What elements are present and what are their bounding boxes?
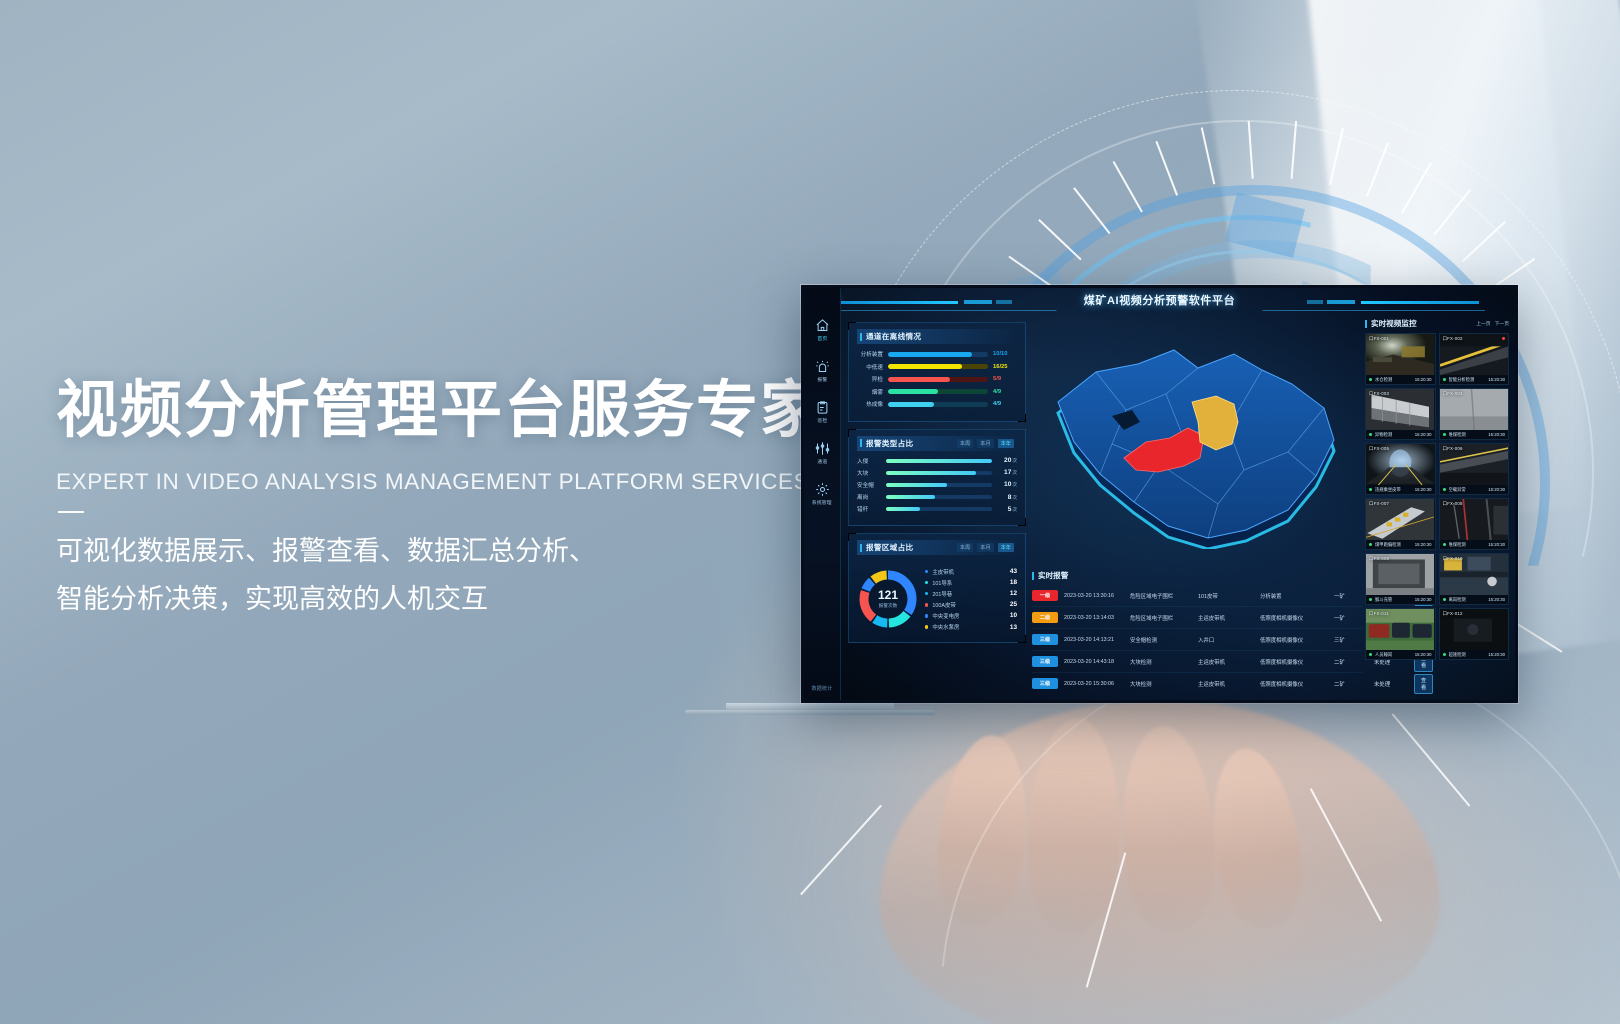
divider-rule	[58, 511, 84, 513]
tick-mark	[1113, 161, 1143, 212]
legend-color-dot	[925, 625, 928, 628]
channel-bar-track	[888, 364, 988, 369]
header-bar-right	[1361, 301, 1479, 304]
alarm-area-tabs[interactable]: 本周本月本年	[957, 543, 1014, 552]
table-row: 三级2023-03-20 14:43:18大块检测主运皮带机低照度相机摄像仪二矿…	[1032, 650, 1363, 672]
panel-title: 通道在离线情况	[860, 331, 921, 342]
video-cell[interactable]: 口FX-012超速检测15:20:30	[1439, 608, 1510, 660]
video-grid: 口FX-001水仓检测15:20:30口FX-002智能分析检测15:20:30…	[1365, 333, 1509, 660]
alarm-time: 2023-03-20 13:30:16	[1064, 593, 1130, 599]
video-timestamp: 15:20:30	[1415, 542, 1432, 547]
tick-mark	[1201, 127, 1216, 184]
video-camera-id: 口FX-008	[1443, 501, 1463, 507]
sidebar-item-1[interactable]: 首页	[815, 318, 830, 342]
video-monitor-panel: 实时视频监控 上一页 下一页 口FX-001水仓检测15:20:30口FX-00…	[1365, 318, 1509, 692]
tick-mark	[1291, 121, 1298, 179]
tick-mark	[1366, 142, 1389, 197]
sidebar-item-label: 通道	[817, 458, 827, 464]
table-row: 二级2023-03-20 13:14:03危险区域电子围栏主运皮带机低照度相机摄…	[1032, 606, 1363, 628]
video-label: 离岗检测	[1449, 597, 1489, 603]
alarm-type-tab-3[interactable]: 本年	[998, 439, 1014, 448]
header-dash-3	[1327, 300, 1355, 304]
channel-bar-fill	[888, 364, 962, 369]
alarm-type-unit: 次	[1012, 507, 1017, 512]
video-camera-id: 口FX-005	[1369, 446, 1389, 452]
video-label: 煤甲跑偏检测	[1375, 542, 1415, 548]
alarm-type-track	[886, 471, 992, 475]
alarm-level-badge: 三级	[1032, 656, 1058, 667]
video-timestamp: 15:20:30	[1488, 377, 1505, 382]
channel-bar-fill	[888, 389, 938, 394]
alarm-time: 2023-03-20 13:14:03	[1064, 615, 1130, 621]
gear-icon	[815, 482, 830, 497]
alarm-time: 2023-03-20 15:30:06	[1064, 681, 1130, 687]
video-cell[interactable]: 口FX-007煤甲跑偏检测15:20:30	[1365, 498, 1436, 550]
video-timestamp: 15:20:30	[1415, 597, 1432, 602]
channel-bar-track	[888, 377, 988, 382]
video-timestamp: 15:20:30	[1415, 652, 1432, 657]
alarm-level-badge: 二级	[1032, 612, 1058, 623]
tick-mark	[1462, 221, 1506, 262]
hero-desc-line-2: 智能分析决策，实现高效的人机交互	[56, 575, 824, 623]
alarm-type-unit: 次	[1012, 458, 1017, 463]
video-timestamp: 15:20:30	[1488, 542, 1505, 547]
legend-row: 100A皮带25	[925, 601, 1017, 609]
video-label: 猴斗充管	[1375, 597, 1415, 603]
alarm-type-row: 离岗8次	[857, 493, 1017, 501]
video-camera-id: 口FX-009	[1369, 556, 1389, 562]
channel-row: 异检5/9	[857, 375, 1017, 383]
video-camera-id: 口FX-001	[1369, 336, 1389, 342]
tick-mark	[1433, 189, 1471, 236]
legend-color-dot	[925, 614, 928, 617]
channel-bar-track	[888, 352, 988, 357]
dashboard-sidebar[interactable]: 首页报警巡检通道系统管理数据统计	[804, 288, 841, 700]
alarm-type-fill	[886, 507, 920, 511]
status-online-dot	[1369, 488, 1372, 491]
legend-value: 12	[1010, 590, 1017, 597]
video-label: 空载异常	[1449, 487, 1489, 493]
realtime-alarm-panel: 实时报警 一级2023-03-20 13:30:16危险区域电子围栏101皮带分…	[1032, 570, 1363, 692]
sidebar-footer-label: 数据统计	[804, 685, 840, 692]
channel-value: 16/25	[993, 364, 1017, 370]
video-cell[interactable]: 口FX-004堆煤检测15:20:30	[1439, 388, 1510, 440]
legend-value: 10	[1010, 612, 1017, 619]
alarm-device: 分析装置	[1260, 592, 1334, 600]
video-camera-id: 口FX-012	[1443, 611, 1463, 617]
alarm-type-value: 8次	[997, 494, 1017, 501]
alarm-type-value: 17次	[997, 469, 1017, 476]
alarm-type: 大块检测	[1130, 680, 1198, 688]
alarm-type-fill	[886, 471, 976, 475]
table-row: 一级2023-03-20 13:30:16危险区域电子围栏101皮带分析装置一矿…	[1032, 585, 1363, 606]
alarm-type-row: 入侵20次	[857, 457, 1017, 465]
channel-name: 热成像	[857, 400, 883, 408]
legend-label: 100A皮带	[932, 601, 1006, 609]
legend-label: 201导巷	[932, 590, 1006, 598]
alarm-type-track	[886, 495, 992, 499]
legend-value: 18	[1010, 579, 1017, 586]
alarm-type-value: 20次	[997, 457, 1017, 464]
province-map[interactable]	[1048, 324, 1348, 549]
alarm-type-row: 错杆5次	[857, 505, 1017, 513]
alarm-area-chart: 121 报警次数 主皮带机43101导系18201导巷12100A皮带25中央变…	[857, 561, 1017, 634]
legend-label: 中央水泵房	[932, 623, 1006, 631]
video-label: 智能分析检测	[1449, 377, 1489, 383]
video-footer: 空载异常15:20:30	[1440, 485, 1509, 494]
alarm-type-row: 安全帽10次	[857, 481, 1017, 489]
alarm-type-name: 大块	[857, 469, 881, 477]
video-panel-header: 实时视频监控 上一页 下一页	[1365, 318, 1509, 329]
alarm-type-tabs[interactable]: 本周本月本年	[957, 439, 1014, 448]
video-camera-id: 口FX-007	[1369, 501, 1389, 507]
alarm-level-badge: 三级	[1032, 678, 1058, 689]
realtime-alarm-title: 实时报警	[1032, 570, 1363, 581]
sidebar-footer: 数据统计	[804, 685, 840, 692]
channel-bar-track	[888, 389, 988, 394]
channel-bar-fill	[888, 402, 934, 407]
video-label: 堆煤检测	[1449, 542, 1489, 548]
status-online-dot	[1369, 653, 1372, 656]
legend-label: 主皮带机	[932, 568, 1006, 576]
channel-value: 10/10	[993, 351, 1017, 357]
home-icon	[815, 318, 830, 333]
panel-title: 报警类型占比	[860, 438, 913, 449]
recording-indicator-icon	[1502, 337, 1505, 340]
alarm-channel: 101皮带	[1198, 592, 1260, 600]
legend-row: 中央水泵房13	[925, 623, 1017, 631]
video-cell[interactable]: 口FX-008堆煤检测15:20:30	[1439, 498, 1510, 550]
channel-name: 中低速	[857, 363, 883, 371]
clipboard-check-icon	[815, 400, 830, 415]
left-column: 通道在离线情况 分析装置10/10中低速16/25异检5/9烟雾4/9热成像4/…	[848, 322, 1026, 690]
donut-total-value: 121	[878, 589, 898, 601]
video-camera-id: 口FX-004	[1443, 391, 1463, 397]
video-camera-id: 口FX-002	[1443, 336, 1463, 342]
legend-value: 25	[1010, 601, 1017, 608]
alarm-type-value: 10次	[997, 481, 1017, 488]
alarm-device: 低照度相机摄像仪	[1260, 658, 1334, 666]
video-cell[interactable]: 口FX-005违规乘坐皮带15:20:30	[1365, 443, 1436, 495]
alarm-type-name: 入侵	[857, 457, 881, 465]
legend-color-dot	[925, 592, 928, 595]
video-camera-id: 口FX-006	[1443, 446, 1463, 452]
sidebar-item-label: 首页	[817, 335, 827, 341]
status-online-dot	[1443, 543, 1446, 546]
alarm-type-tab-1[interactable]: 本周	[957, 439, 973, 448]
channel-bar-list: 分析装置10/10中低速16/25异检5/9烟雾4/9热成像4/9	[857, 350, 1017, 408]
channel-name: 分析装置	[857, 350, 883, 358]
video-footer: 煤甲跑偏检测15:20:30	[1366, 540, 1435, 549]
legend-value: 43	[1010, 568, 1017, 575]
sidebar-item-5[interactable]: 系统管理	[811, 482, 833, 506]
legend-color-dot	[925, 570, 928, 573]
channel-row: 烟雾4/9	[857, 388, 1017, 396]
video-footer: 超速检测15:20:30	[1440, 650, 1509, 659]
alarm-type: 大块检测	[1130, 658, 1198, 666]
tick-mark	[1329, 128, 1344, 185]
sidebar-item-2[interactable]: 报警	[815, 359, 830, 383]
monitor-device: 煤矿AI视频分析预警软件平台 首页报警巡检通道系统管理数据统计 通道在离线情况 …	[801, 285, 1518, 703]
alarm-type-name: 安全帽	[857, 481, 881, 489]
sidebar-item-label: 巡检	[817, 417, 827, 423]
video-camera-id: 口FX-003	[1369, 391, 1389, 397]
video-cell[interactable]: 口FX-006空载异常15:20:30	[1439, 443, 1510, 495]
alarm-type-fill	[886, 495, 935, 499]
channel-bar-fill	[888, 352, 972, 357]
status-online-dot	[1369, 598, 1372, 601]
video-cell[interactable]: 口FX-009猴斗充管15:20:30	[1365, 553, 1436, 605]
status-online-dot	[1369, 378, 1372, 381]
page-subtitle-en: EXPERT IN VIDEO ANALYSIS MANAGEMENT PLAT…	[56, 469, 824, 495]
monitor-stand	[726, 703, 894, 710]
video-label: 堆煤检测	[1449, 432, 1489, 438]
channel-name: 烟雾	[857, 388, 883, 396]
alarm-channel: 主运皮带机	[1198, 614, 1260, 622]
legend-value: 13	[1010, 624, 1017, 631]
table-row: 三级2023-03-20 15:30:06大块检测主运皮带机低照度相机摄像仪二矿…	[1032, 672, 1363, 694]
alarm-device: 低照度相机摄像仪	[1260, 614, 1334, 622]
alarm-type-track	[886, 459, 992, 463]
legend-row: 主皮带机43	[925, 568, 1017, 576]
channel-value: 5/9	[993, 376, 1017, 382]
map-box[interactable]	[1032, 322, 1363, 550]
dashboard-title: 煤矿AI视频分析预警软件平台	[1084, 292, 1235, 308]
tick-mark	[1073, 187, 1110, 234]
alarm-type-name: 错杆	[857, 505, 881, 513]
status-online-dot	[1369, 543, 1372, 546]
panel-header: 报警类型占比 本周本月本年	[857, 436, 1017, 451]
header-dash-2	[996, 300, 1012, 304]
donut-center: 121 报警次数	[869, 580, 907, 618]
status-online-dot	[1443, 378, 1446, 381]
dashboard-screen: 煤矿AI视频分析预警软件平台 首页报警巡检通道系统管理数据统计 通道在离线情况 …	[804, 288, 1515, 700]
video-timestamp: 15:20:30	[1488, 597, 1505, 602]
header-dash-1	[964, 300, 992, 304]
alarm-device: 低照度相机摄像仪	[1260, 680, 1334, 688]
alarm-area-tab-1[interactable]: 本周	[957, 543, 973, 552]
legend-row: 101导系18	[925, 579, 1017, 587]
status-online-dot	[1443, 488, 1446, 491]
tick-mark	[1038, 219, 1081, 260]
video-panel-title: 实时视频监控	[1365, 318, 1417, 329]
table-row: 三级2023-03-20 14:13:21安全帽检测入井口低照度相机摄像仪三矿未…	[1032, 628, 1363, 650]
video-cell[interactable]: 口FX-003异物检测15:20:30	[1365, 388, 1436, 440]
sidebar-item-label: 系统管理	[812, 499, 832, 505]
channel-bar-track	[888, 402, 988, 407]
header-bar-left	[840, 301, 958, 304]
alarm-device: 低照度相机摄像仪	[1260, 636, 1334, 644]
alarm-channel: 入井口	[1198, 636, 1260, 644]
status-online-dot	[1443, 433, 1446, 436]
video-timestamp: 15:20:30	[1415, 377, 1432, 382]
legend-color-dot	[925, 581, 928, 584]
alarm-type-fill	[886, 483, 947, 487]
alarm-level-badge: 一级	[1032, 590, 1058, 601]
alarm-type-unit: 次	[1012, 470, 1017, 475]
video-cell[interactable]: 口FX-001水仓检测15:20:30	[1365, 333, 1436, 385]
status-online-dot	[1369, 433, 1372, 436]
channel-row: 中低速16/25	[857, 363, 1017, 371]
video-footer: 离岗检测15:20:30	[1440, 595, 1509, 604]
donut-chart: 121 报警次数	[857, 568, 919, 630]
sidebar-item-label: 报警	[817, 376, 827, 382]
alarm-level-badge: 三级	[1032, 634, 1058, 645]
alarm-area-tab-3[interactable]: 本年	[998, 543, 1014, 552]
channel-bar-fill	[888, 377, 950, 382]
donut-legend: 主皮带机43101导系18201导巷12100A皮带25中央变电房10中央水泵房…	[925, 564, 1017, 634]
channel-value: 4/9	[993, 401, 1017, 407]
video-label: 异物检测	[1375, 432, 1415, 438]
status-online-dot	[1443, 598, 1446, 601]
alarm-time: 2023-03-20 14:13:21	[1064, 637, 1130, 643]
page-title: 视频分析管理平台服务专家	[56, 378, 824, 445]
hero-text-block: 视频分析管理平台服务专家 EXPERT IN VIDEO ANALYSIS MA…	[56, 378, 824, 623]
alarm-light-icon	[815, 359, 830, 374]
sidebar-item-3[interactable]: 巡检	[815, 400, 830, 424]
video-pagination[interactable]: 上一页 下一页	[1476, 320, 1509, 327]
alarm-type: 危险区域电子围栏	[1130, 592, 1198, 600]
alarm-type-track	[886, 483, 992, 487]
video-footer: 猴斗充管15:20:30	[1366, 595, 1435, 604]
alarm-area-tab-2[interactable]: 本月	[977, 543, 993, 552]
legend-label: 101导系	[932, 579, 1006, 587]
sidebar-item-4[interactable]: 通道	[815, 441, 830, 465]
video-footer: 堆煤检测15:20:30	[1440, 430, 1509, 439]
video-footer: 异物检测15:20:30	[1366, 430, 1435, 439]
video-timestamp: 15:20:30	[1488, 432, 1505, 437]
video-footer: 人员睡岗15:20:30	[1366, 650, 1435, 659]
header-dash-4	[1307, 300, 1323, 304]
video-cell[interactable]: 口FX-010离岗检测15:20:30	[1439, 553, 1510, 605]
alarm-type-unit: 次	[1012, 482, 1017, 487]
video-cell[interactable]: 口FX-011人员睡岗15:20:30	[1365, 608, 1436, 660]
legend-color-dot	[925, 603, 928, 606]
alarm-type-row: 大块17次	[857, 469, 1017, 477]
video-timestamp: 15:20:30	[1488, 487, 1505, 492]
alarm-type: 危险区域电子围栏	[1130, 614, 1198, 622]
alarm-type: 安全帽检测	[1130, 636, 1198, 644]
channel-name: 异检	[857, 375, 883, 383]
video-timestamp: 15:20:30	[1415, 487, 1432, 492]
hero-desc-line-1: 可视化数据展示、报警查看、数据汇总分析、	[56, 527, 824, 575]
tick-mark	[1401, 162, 1432, 213]
status-online-dot	[1443, 653, 1446, 656]
legend-label: 中央变电房	[932, 612, 1006, 620]
alarm-type-name: 离岗	[857, 493, 881, 501]
alarm-time: 2023-03-20 14:43:18	[1064, 659, 1130, 665]
alarm-channel: 主运皮带机	[1198, 658, 1260, 666]
legend-row: 201导巷12	[925, 590, 1017, 598]
tick-mark	[1155, 141, 1178, 196]
video-timestamp: 15:20:30	[1415, 432, 1432, 437]
video-footer: 水仓检测15:20:30	[1366, 375, 1435, 384]
alarm-type-track	[886, 507, 992, 511]
panel-channel-status: 通道在离线情况 分析装置10/10中低速16/25异检5/9烟雾4/9热成像4/…	[848, 322, 1026, 422]
video-label: 人员睡岗	[1375, 652, 1415, 658]
alarm-type-fill	[886, 459, 992, 463]
panel-title: 报警区域占比	[860, 542, 913, 553]
channel-icon	[815, 441, 830, 456]
alarm-type-tab-2[interactable]: 本月	[977, 439, 993, 448]
video-prev-page[interactable]: 上一页	[1476, 320, 1490, 327]
video-label: 水仓检测	[1375, 377, 1415, 383]
video-camera-id: 口FX-011	[1369, 611, 1389, 617]
alarm-channel: 主运皮带机	[1198, 680, 1260, 688]
tick-mark	[1248, 121, 1254, 179]
alarm-type-list: 入侵20次大块17次安全帽10次离岗8次错杆5次	[857, 457, 1017, 514]
channel-row: 热成像4/9	[857, 400, 1017, 408]
legend-row: 中央变电房10	[925, 612, 1017, 620]
video-timestamp: 15:20:30	[1488, 652, 1505, 657]
video-label: 违规乘坐皮带	[1375, 487, 1415, 493]
panel-header: 报警区域占比 本周本月本年	[857, 540, 1017, 555]
panel-alarm-type: 报警类型占比 本周本月本年 入侵20次大块17次安全帽10次离岗8次错杆5次	[848, 429, 1026, 527]
video-camera-id: 口FX-010	[1443, 556, 1463, 562]
video-cell[interactable]: 口FX-002智能分析检测15:20:30	[1439, 333, 1510, 385]
video-footer: 堆煤检测15:20:30	[1440, 540, 1509, 549]
alarm-type-value: 5次	[997, 506, 1017, 513]
panel-header: 通道在离线情况	[857, 329, 1017, 344]
realtime-alarm-table: 一级2023-03-20 13:30:16危险区域电子围栏101皮带分析装置一矿…	[1032, 585, 1363, 694]
donut-total-label: 报警次数	[879, 603, 897, 609]
video-label: 超速检测	[1449, 652, 1489, 658]
channel-row: 分析装置10/10	[857, 350, 1017, 358]
alarm-type-unit: 次	[1012, 495, 1017, 500]
monitor-stand-base	[685, 710, 935, 715]
panel-alarm-area: 报警区域占比 本周本月本年 121 报警次数 主皮带机43101导系18201导…	[848, 533, 1026, 643]
video-next-page[interactable]: 下一页	[1495, 320, 1509, 327]
video-footer: 智能分析检测15:20:30	[1440, 375, 1509, 384]
channel-value: 4/9	[993, 389, 1017, 395]
video-footer: 违规乘坐皮带15:20:30	[1366, 485, 1435, 494]
